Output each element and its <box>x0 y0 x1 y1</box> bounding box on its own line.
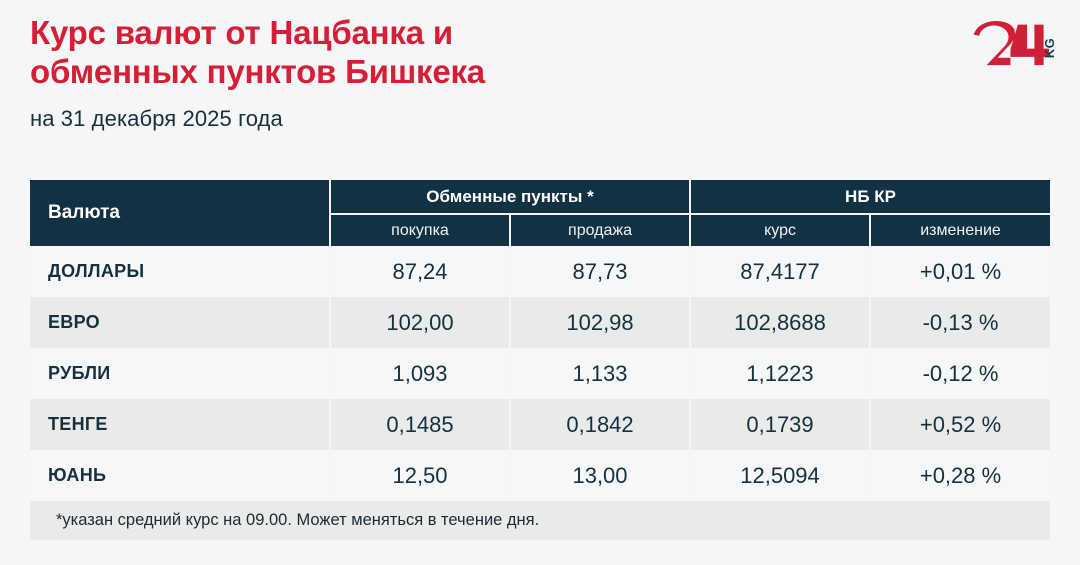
cell-rate: 1,1223 <box>690 348 870 399</box>
cell-currency-name: ТЕНГЕ <box>30 399 330 450</box>
cell-currency-name: РУБЛИ <box>30 348 330 399</box>
cell-buy: 0,1485 <box>330 399 510 450</box>
site-logo-24kg[interactable]: KG <box>968 18 1064 76</box>
cell-buy: 12,50 <box>330 450 510 501</box>
column-header-currency: Валюта <box>30 180 330 246</box>
cell-currency-name: ЮАНЬ <box>30 450 330 501</box>
column-header-rate: курс <box>690 214 870 246</box>
cell-change: -0,13 % <box>870 297 1050 348</box>
column-header-buy: покупка <box>330 214 510 246</box>
table-row: ЕВРО102,00102,98102,8688-0,13 % <box>30 297 1050 348</box>
table-row: РУБЛИ1,0931,1331,1223-0,12 % <box>30 348 1050 399</box>
page-title: Курс валют от Нацбанка и обменных пункто… <box>30 14 730 92</box>
cell-buy: 1,093 <box>330 348 510 399</box>
currency-rates-table: Валюта Обменные пункты * НБ КР покупка п… <box>30 180 1050 540</box>
cell-sell: 102,98 <box>510 297 690 348</box>
table-row: ТЕНГЕ0,14850,18420,1739+0,52 % <box>30 399 1050 450</box>
cell-sell: 87,73 <box>510 246 690 297</box>
cell-change: +0,28 % <box>870 450 1050 501</box>
cell-rate: 87,4177 <box>690 246 870 297</box>
cell-change: -0,12 % <box>870 348 1050 399</box>
column-group-header-nbkr: НБ КР <box>690 180 1050 214</box>
table-footnote: *указан средний курс на 09.00. Может мен… <box>30 501 1050 540</box>
table-row: ДОЛЛАРЫ87,2487,7387,4177+0,01 % <box>30 246 1050 297</box>
cell-buy: 87,24 <box>330 246 510 297</box>
cell-change: +0,01 % <box>870 246 1050 297</box>
page-subtitle: на 31 декабря 2025 года <box>30 106 730 132</box>
logo-digits-icon <box>974 21 1049 65</box>
column-group-header-exchange-points: Обменные пункты * <box>330 180 690 214</box>
cell-change: +0,52 % <box>870 399 1050 450</box>
cell-rate: 0,1739 <box>690 399 870 450</box>
logo-kg-icon: KG <box>1042 38 1057 59</box>
cell-sell: 13,00 <box>510 450 690 501</box>
table-foot: *указан средний курс на 09.00. Может мен… <box>30 501 1050 540</box>
cell-currency-name: ЕВРО <box>30 297 330 348</box>
cell-currency-name: ДОЛЛАРЫ <box>30 246 330 297</box>
table-header-group-row: Валюта Обменные пункты * НБ КР <box>30 180 1050 214</box>
cell-buy: 102,00 <box>330 297 510 348</box>
table-body: ДОЛЛАРЫ87,2487,7387,4177+0,01 %ЕВРО102,0… <box>30 246 1050 501</box>
footnote-row: *указан средний курс на 09.00. Может мен… <box>30 501 1050 540</box>
page-header: Курс валют от Нацбанка и обменных пункто… <box>30 14 730 132</box>
table-head: Валюта Обменные пункты * НБ КР покупка п… <box>30 180 1050 246</box>
cell-rate: 102,8688 <box>690 297 870 348</box>
column-header-sell: продажа <box>510 214 690 246</box>
table-row: ЮАНЬ12,5013,0012,5094+0,28 % <box>30 450 1050 501</box>
cell-sell: 0,1842 <box>510 399 690 450</box>
column-header-change: изменение <box>870 214 1050 246</box>
cell-rate: 12,5094 <box>690 450 870 501</box>
cell-sell: 1,133 <box>510 348 690 399</box>
